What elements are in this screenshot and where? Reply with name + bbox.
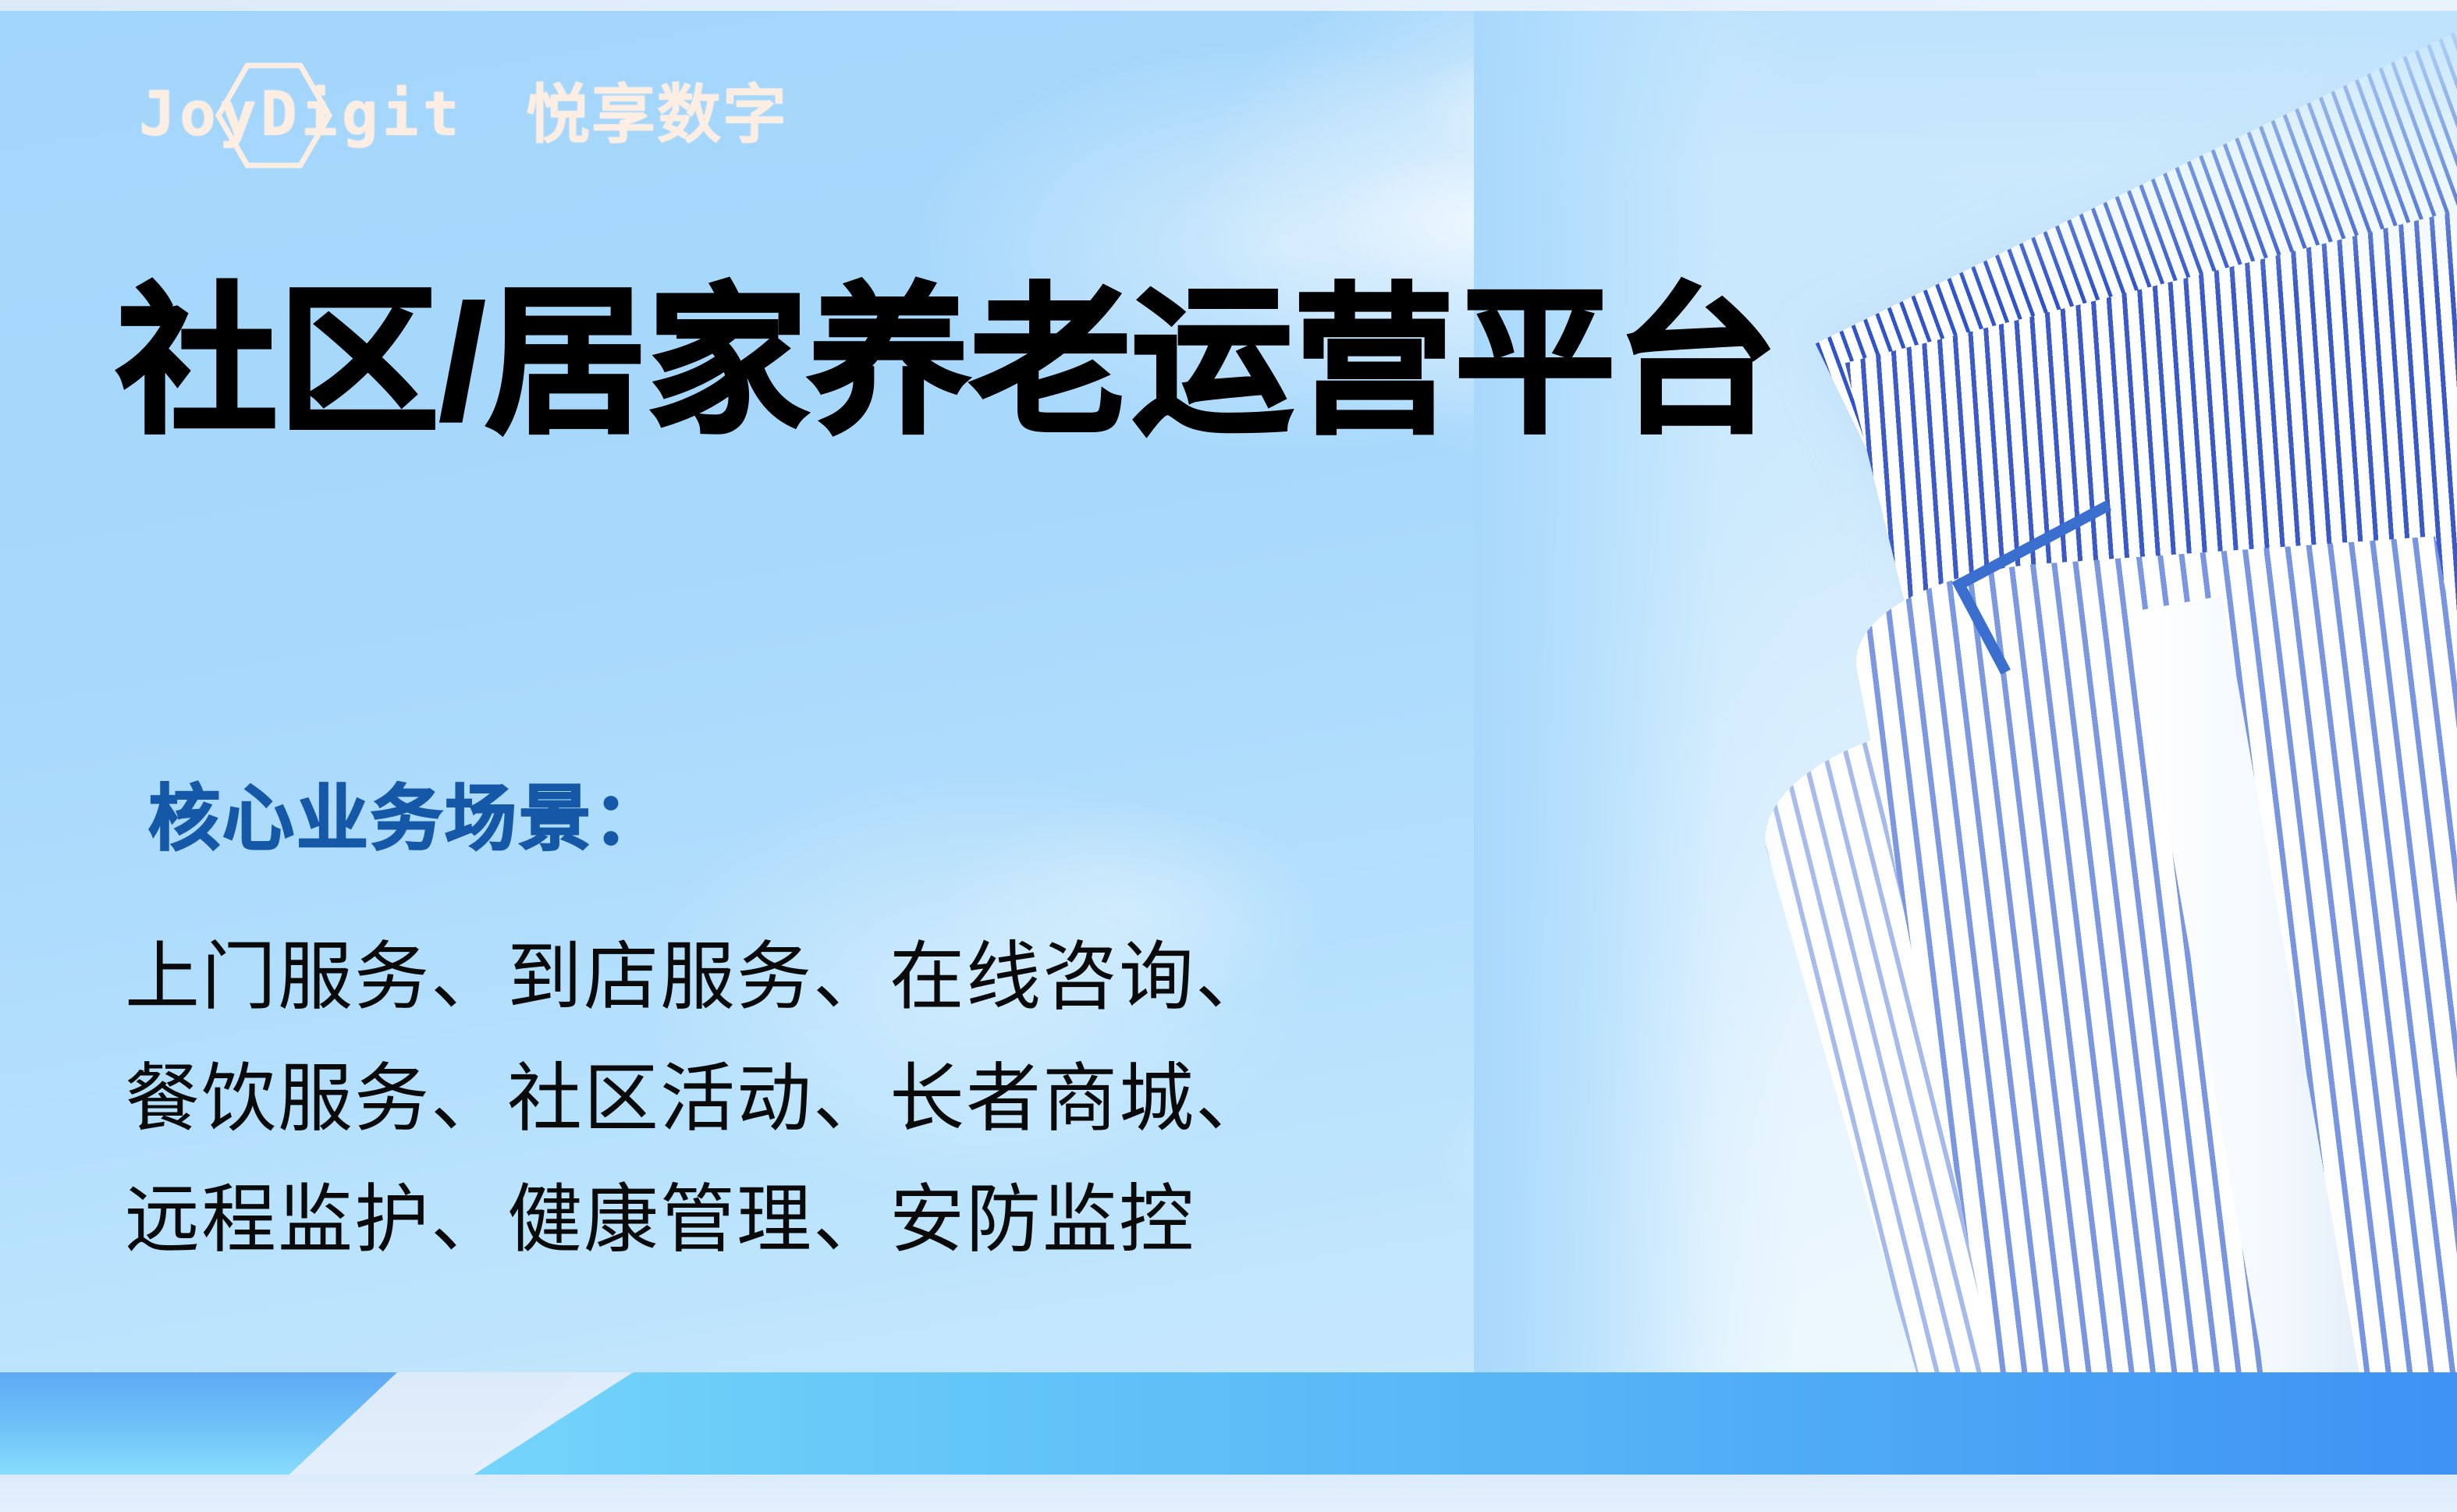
scenario-line: 餐饮服务、社区活动、长者商城、 (125, 1038, 1272, 1160)
top-band (0, 0, 2457, 11)
scenario-line: 远程监护、健康管理、安防监控 (125, 1159, 1272, 1281)
logo-mark: JoyDigit (139, 61, 506, 170)
page-title: 社区/居家养老运营平台 (117, 265, 1778, 460)
bottom-bar-right-parallelogram (442, 1372, 2457, 1475)
bottom-decorative-bar (0, 1372, 2457, 1512)
building-photo (1474, 11, 2457, 1372)
logo-latin-text: JoyDigit (139, 84, 463, 145)
scenario-list: 上门服务、到店服务、在线咨询、 餐饮服务、社区活动、长者商城、 远程监护、健康管… (125, 917, 1272, 1281)
scenario-line: 上门服务、到店服务、在线咨询、 (125, 917, 1272, 1038)
logo-chinese-text: 悦享数字 (526, 83, 788, 147)
brand-logo: JoyDigit 悦享数字 (139, 61, 788, 170)
section-heading: 核心业务场景： (148, 780, 667, 859)
slide-canvas: JoyDigit 悦享数字 社区/居家养老运营平台 核心业务场景： 上门服务、到… (0, 0, 2457, 1512)
photo-fade-left (1474, 11, 1802, 1372)
bottom-strip (0, 1475, 2457, 1512)
